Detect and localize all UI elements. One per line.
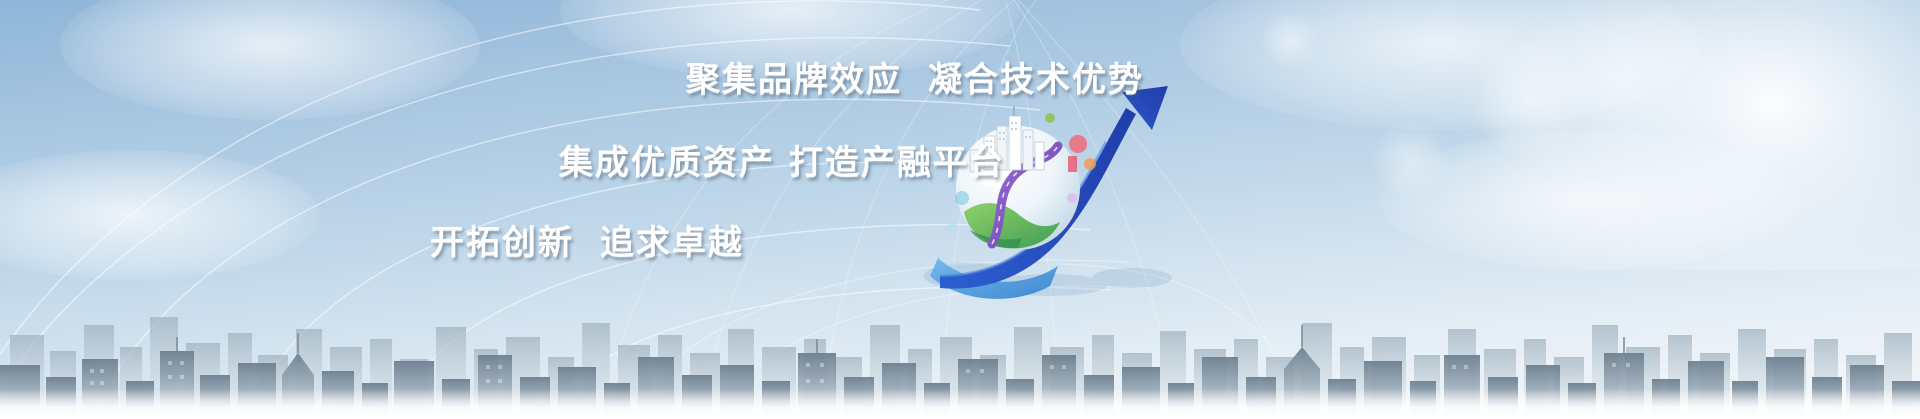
headline-3a: 开拓创新 <box>430 223 574 263</box>
headline-1b: 凝合技术优势 <box>928 60 1144 100</box>
headline-line-3: 开拓创新追求卓越 <box>430 215 744 264</box>
hero-banner: 聚集品牌效应凝合技术优势 集成优质资产打造产融平台 开拓创新追求卓越 <box>0 0 1920 419</box>
headline-line-2: 集成优质资产打造产融平台 <box>559 135 1005 184</box>
headline-2a: 集成优质资产 <box>559 143 775 183</box>
headline-3b: 追求卓越 <box>600 223 744 263</box>
headline-line-1: 聚集品牌效应凝合技术优势 <box>686 52 1144 101</box>
headline-2b: 打造产融平台 <box>789 143 1005 183</box>
ground-fade <box>0 389 1920 419</box>
headline-1a: 聚集品牌效应 <box>686 60 902 100</box>
